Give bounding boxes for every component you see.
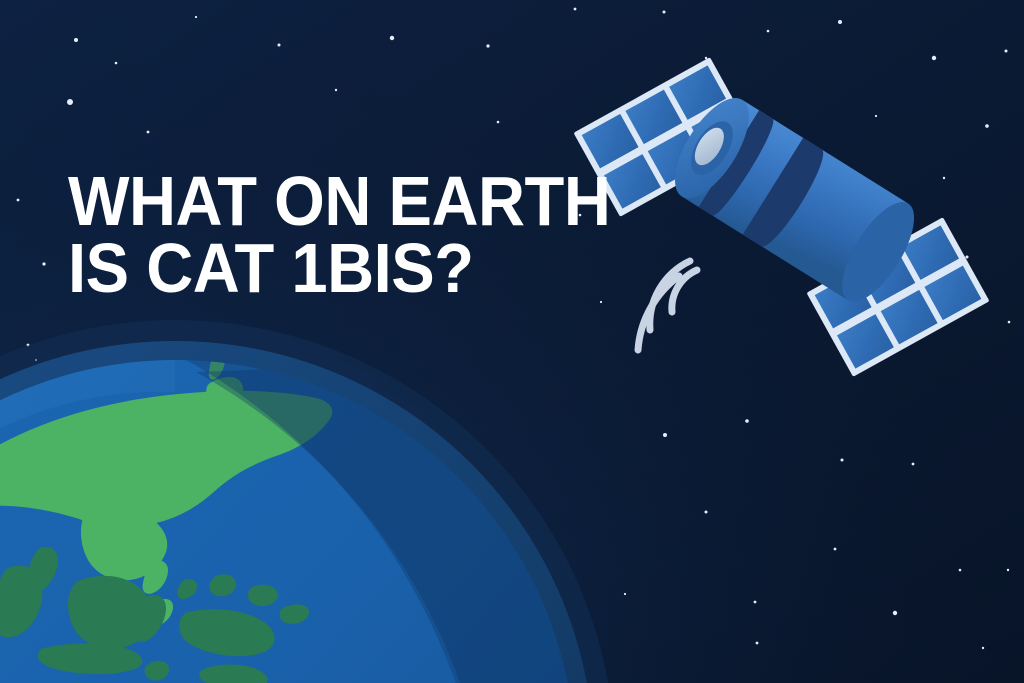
page-title: WHAT ON EARTH IS CAT 1BIS? (68, 168, 651, 301)
headline-line-1: WHAT ON EARTH (68, 168, 610, 235)
scene-artwork (0, 0, 1024, 683)
headline-line-2: IS CAT 1BIS? (68, 235, 610, 302)
illustration-canvas: WHAT ON EARTH IS CAT 1BIS? (0, 0, 1024, 683)
